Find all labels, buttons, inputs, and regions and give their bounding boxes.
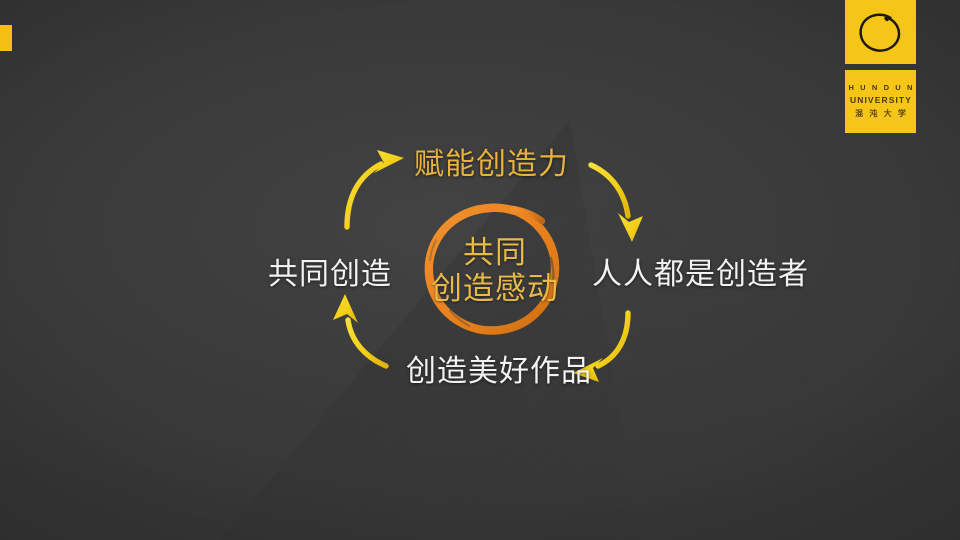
logo: H U N D U N UNIVERSITY 混 沌 大 学 bbox=[845, 0, 916, 133]
logo-line-hundun: H U N D U N bbox=[845, 84, 916, 92]
logo-line-university: UNIVERSITY bbox=[845, 96, 916, 105]
center-line-2: 创造感动 bbox=[431, 273, 559, 306]
cycle-node-label-left: 共同创造 bbox=[268, 249, 392, 293]
cycle-center-text: 共同 创造感动 bbox=[420, 200, 570, 342]
cycle-node-label-bottom: 创造美好作品 bbox=[406, 346, 592, 390]
decorative-yellow-tab bbox=[0, 25, 12, 51]
cycle-node-label-right: 人人都是创造者 bbox=[592, 249, 809, 293]
logo-line-chinese: 混 沌 大 学 bbox=[845, 110, 916, 119]
logo-wordmark: H U N D U N UNIVERSITY 混 沌 大 学 bbox=[845, 70, 916, 133]
cycle-center: 共同 创造感动 bbox=[420, 200, 570, 342]
slide-canvas: H U N D U N UNIVERSITY 混 沌 大 学 bbox=[0, 0, 960, 540]
center-line-1: 共同 bbox=[463, 237, 527, 270]
cycle-node-label-top: 赋能创造力 bbox=[414, 139, 569, 183]
hundun-circle-mark-icon bbox=[845, 0, 916, 64]
